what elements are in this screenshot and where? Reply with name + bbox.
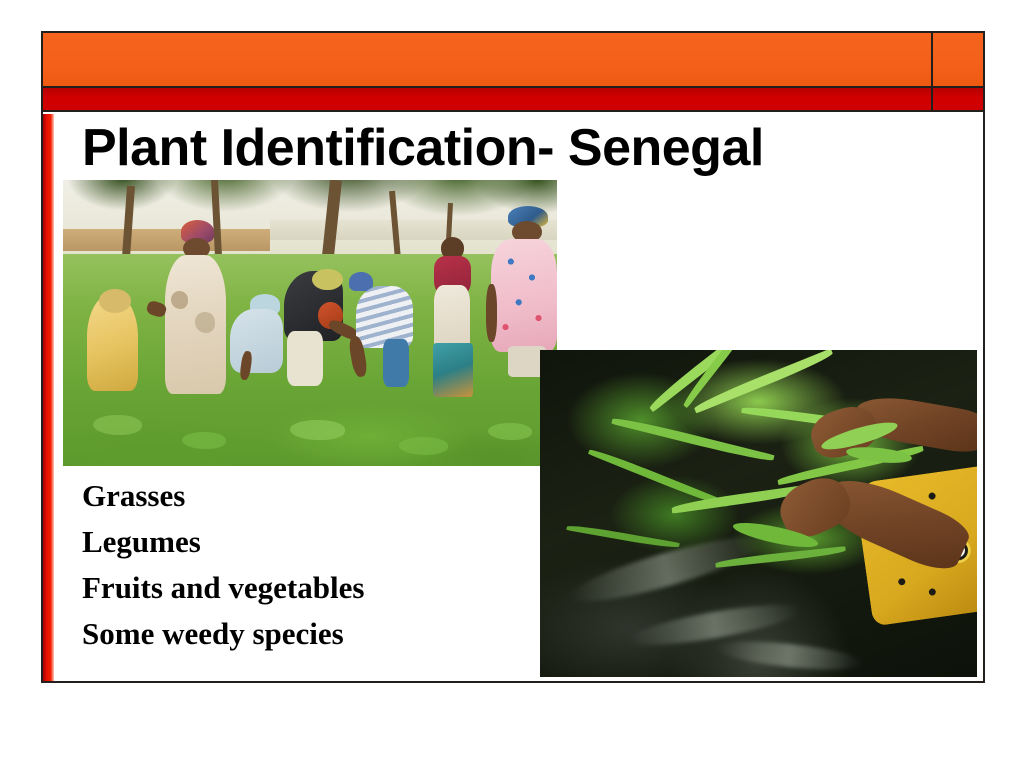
header-red-rule-main xyxy=(43,88,933,110)
photo-person-figure xyxy=(345,272,424,392)
header-orange-band-tab xyxy=(933,33,983,86)
left-red-accent-bar xyxy=(43,114,54,681)
list-item: Legumes xyxy=(82,519,532,565)
list-item: Grasses xyxy=(82,473,532,519)
header-orange-band-main xyxy=(43,33,933,86)
list-item: Some weedy species xyxy=(82,611,532,657)
page-title: Plant Identification- Senegal xyxy=(82,118,942,180)
header-orange-band xyxy=(43,33,983,88)
photo-person-figure xyxy=(83,289,152,398)
plant-sorting-photo xyxy=(540,350,977,677)
header-red-rule xyxy=(43,88,983,112)
bullet-list: Grasses Legumes Fruits and vegetables So… xyxy=(82,473,532,657)
list-item: Fruits and vegetables xyxy=(82,565,532,611)
photo-person-figure xyxy=(157,220,236,397)
slide-frame: Plant Identification- Senegal xyxy=(41,31,985,683)
header-red-rule-tab xyxy=(933,88,983,110)
photo-person-figure xyxy=(419,237,488,397)
field-harvest-photo xyxy=(63,180,557,466)
